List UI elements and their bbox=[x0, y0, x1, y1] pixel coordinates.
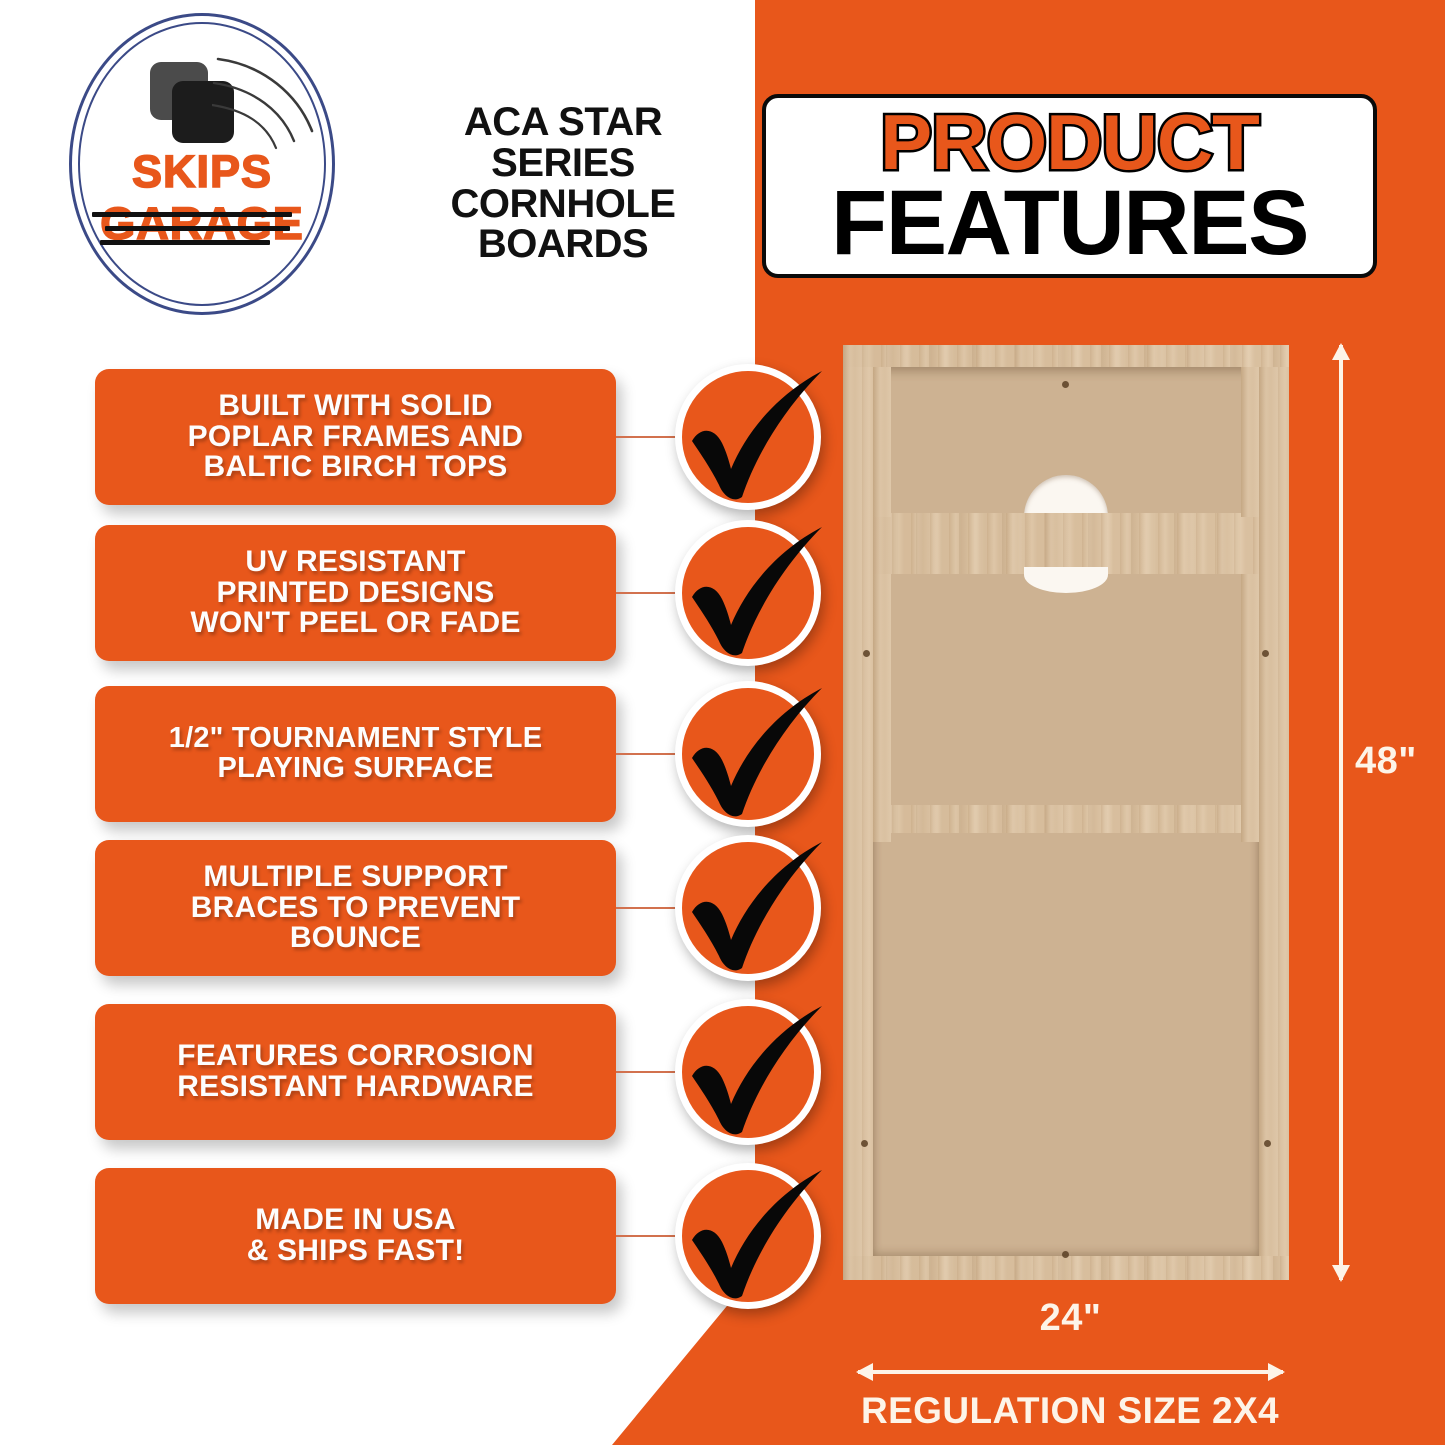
board-rail-left bbox=[843, 345, 873, 1280]
board-screw-right bbox=[1262, 650, 1269, 657]
feature-pill-1-text: BUILT WITH SOLID POPLAR FRAMES AND BALTI… bbox=[188, 391, 524, 483]
board-brace-middle bbox=[873, 805, 1259, 833]
height-dimension-label: 48" bbox=[1355, 740, 1417, 783]
height-dimension-arrow bbox=[1339, 345, 1343, 1280]
infographic-canvas: SKIPS GARAGE ACA STAR SERIES CORNHOLE BO… bbox=[0, 0, 1445, 1445]
arrow-up-icon bbox=[1332, 343, 1350, 360]
feature-row-4: MULTIPLE SUPPORT BRACES TO PREVENT BOUNC… bbox=[0, 840, 830, 976]
logo-bar-1 bbox=[92, 212, 292, 217]
product-title-line-3: CORNHOLE bbox=[398, 184, 728, 225]
feature-pill-2-text: UV RESISTANT PRINTED DESIGNS WON'T PEEL … bbox=[190, 547, 520, 639]
feature-pill-6[interactable]: MADE IN USA & SHIPS FAST! bbox=[95, 1168, 616, 1304]
board-brace-upper bbox=[873, 513, 1259, 574]
feature-pill-4[interactable]: MULTIPLE SUPPORT BRACES TO PREVENT BOUNC… bbox=[95, 840, 616, 976]
brand-logo: SKIPS GARAGE bbox=[32, 8, 372, 320]
board-screw-right-lower bbox=[1264, 1140, 1271, 1147]
product-title: ACA STAR SERIES CORNHOLE BOARDS bbox=[398, 102, 728, 265]
feature-pill-4-text: MULTIPLE SUPPORT BRACES TO PREVENT BOUNC… bbox=[191, 862, 521, 954]
feature-row-6: MADE IN USA & SHIPS FAST! bbox=[0, 1168, 830, 1304]
motion-lines-icon bbox=[212, 53, 322, 153]
board-rail-top bbox=[843, 345, 1289, 367]
arrow-right-icon bbox=[1268, 1363, 1285, 1381]
board-stud-right-upper bbox=[1241, 367, 1259, 517]
board-screw-bottom bbox=[1062, 1251, 1069, 1258]
feature-check-circle-1 bbox=[675, 364, 821, 510]
feature-check-circle-3 bbox=[675, 681, 821, 827]
logo-bar-3 bbox=[100, 240, 270, 245]
arrow-left-icon bbox=[856, 1363, 873, 1381]
feature-check-circle-4 bbox=[675, 835, 821, 981]
product-title-line-2: SERIES bbox=[398, 143, 728, 184]
board-rail-right bbox=[1259, 345, 1289, 1280]
feature-pill-5[interactable]: FEATURES CORROSION RESISTANT HARDWARE bbox=[95, 1004, 616, 1140]
product-features-header: PRODUCT FEATURES bbox=[762, 94, 1377, 278]
feature-row-1: BUILT WITH SOLID POPLAR FRAMES AND BALTI… bbox=[0, 369, 830, 505]
feature-check-circle-6 bbox=[675, 1163, 821, 1309]
feature-row-2: UV RESISTANT PRINTED DESIGNS WON'T PEEL … bbox=[0, 525, 830, 661]
logo-bar-2 bbox=[105, 226, 290, 231]
board-stud-left-lower bbox=[873, 574, 891, 842]
board-stud-right-lower bbox=[1241, 574, 1259, 842]
width-dimension-label: 24" bbox=[858, 1297, 1283, 1340]
board-screw-left-lower bbox=[861, 1140, 868, 1147]
product-title-line-1: ACA STAR bbox=[398, 102, 728, 143]
feature-row-3: 1/2" TOURNAMENT STYLE PLAYING SURFACE bbox=[0, 686, 830, 822]
header-word-product: PRODUCT bbox=[880, 107, 1259, 179]
feature-pill-2[interactable]: UV RESISTANT PRINTED DESIGNS WON'T PEEL … bbox=[95, 525, 616, 661]
feature-pill-3-text: 1/2" TOURNAMENT STYLE PLAYING SURFACE bbox=[169, 724, 543, 783]
cornhole-board-image bbox=[843, 345, 1289, 1280]
width-dimension-arrow bbox=[858, 1370, 1283, 1374]
logo-underline-bars bbox=[92, 212, 312, 254]
arrow-down-icon bbox=[1332, 1265, 1350, 1282]
board-rail-bottom bbox=[843, 1256, 1289, 1280]
feature-check-circle-2 bbox=[675, 520, 821, 666]
feature-check-circle-5 bbox=[675, 999, 821, 1145]
board-screw-left bbox=[863, 650, 870, 657]
board-stud-left-upper bbox=[873, 367, 891, 517]
board-screw-top bbox=[1062, 381, 1069, 388]
feature-pill-3[interactable]: 1/2" TOURNAMENT STYLE PLAYING SURFACE bbox=[95, 686, 616, 822]
regulation-size-note: REGULATION SIZE 2X4 bbox=[830, 1390, 1310, 1432]
feature-pill-6-text: MADE IN USA & SHIPS FAST! bbox=[247, 1205, 465, 1266]
feature-pill-1[interactable]: BUILT WITH SOLID POPLAR FRAMES AND BALTI… bbox=[95, 369, 616, 505]
product-title-line-4: BOARDS bbox=[398, 224, 728, 265]
feature-pill-5-text: FEATURES CORROSION RESISTANT HARDWARE bbox=[177, 1041, 533, 1102]
feature-row-5: FEATURES CORROSION RESISTANT HARDWARE bbox=[0, 1004, 830, 1140]
header-word-features: FEATURES bbox=[831, 181, 1308, 266]
